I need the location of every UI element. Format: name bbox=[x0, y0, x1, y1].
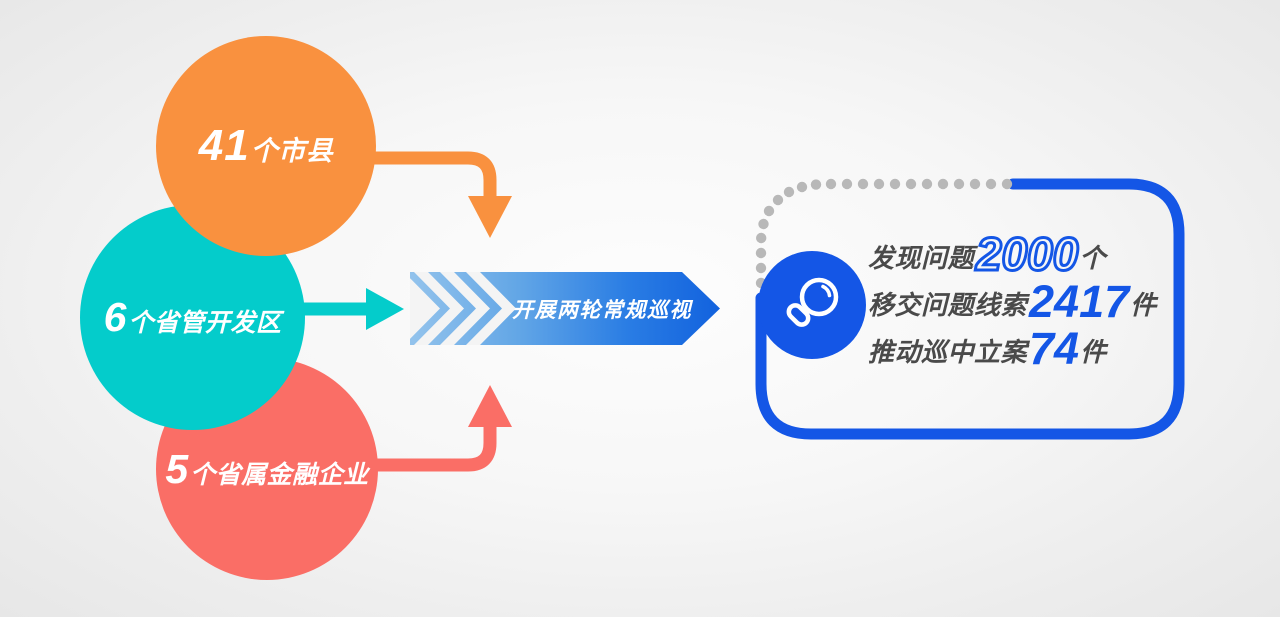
source-bubble-zones-number: 6 bbox=[104, 294, 128, 340]
process-banner-shape bbox=[410, 272, 720, 345]
source-bubble-cities-label: 41个市县 bbox=[199, 124, 333, 168]
source-bubble-finance-unit: 个省属金融企业 bbox=[190, 461, 369, 489]
result-label-transferred: 移交问题线索 bbox=[868, 292, 1027, 319]
infographic-canvas: 5个省属金融企业 6个省管开发区 41个市县 bbox=[0, 0, 1280, 617]
magnifier-badge[interactable] bbox=[758, 251, 866, 359]
result-unit-cases: 件 bbox=[1080, 339, 1106, 366]
result-value-transferred: 2417 bbox=[1029, 279, 1129, 325]
source-bubble-cities[interactable]: 41个市县 bbox=[156, 36, 376, 256]
connector-zones-arrow bbox=[300, 288, 404, 330]
result-value-found: 2000 bbox=[976, 231, 1078, 278]
result-unit-found: 个 bbox=[1079, 245, 1105, 272]
source-bubble-finance-number: 5 bbox=[165, 446, 189, 492]
result-line-found: 发现问题 2000 个 bbox=[868, 228, 1156, 275]
source-bubble-cities-number: 41 bbox=[199, 121, 250, 170]
result-value-cases: 74 bbox=[1029, 326, 1079, 372]
source-bubble-finance-label: 5个省属金融企业 bbox=[165, 449, 368, 490]
source-bubble-cities-unit: 个市县 bbox=[251, 136, 334, 166]
source-bubble-zones-unit: 个省管开发区 bbox=[128, 309, 281, 337]
result-label-found: 发现问题 bbox=[868, 245, 974, 272]
magnifier-icon bbox=[779, 272, 845, 338]
connector-finance-arrow bbox=[372, 385, 512, 465]
connector-cities-arrow bbox=[372, 158, 512, 238]
source-bubble-zones-label: 6个省管开发区 bbox=[104, 297, 282, 338]
results-text-block: 发现问题 2000 个 移交问题线索 2417 件 推动巡中立案 74 件 bbox=[868, 228, 1156, 369]
result-line-cases: 推动巡中立案 74 件 bbox=[868, 323, 1156, 369]
process-banner[interactable]: 开展两轮常规巡视 bbox=[410, 272, 720, 345]
result-unit-transferred: 件 bbox=[1130, 292, 1156, 319]
result-line-transferred: 移交问题线索 2417 件 bbox=[868, 276, 1156, 322]
result-label-cases: 推动巡中立案 bbox=[868, 339, 1027, 366]
